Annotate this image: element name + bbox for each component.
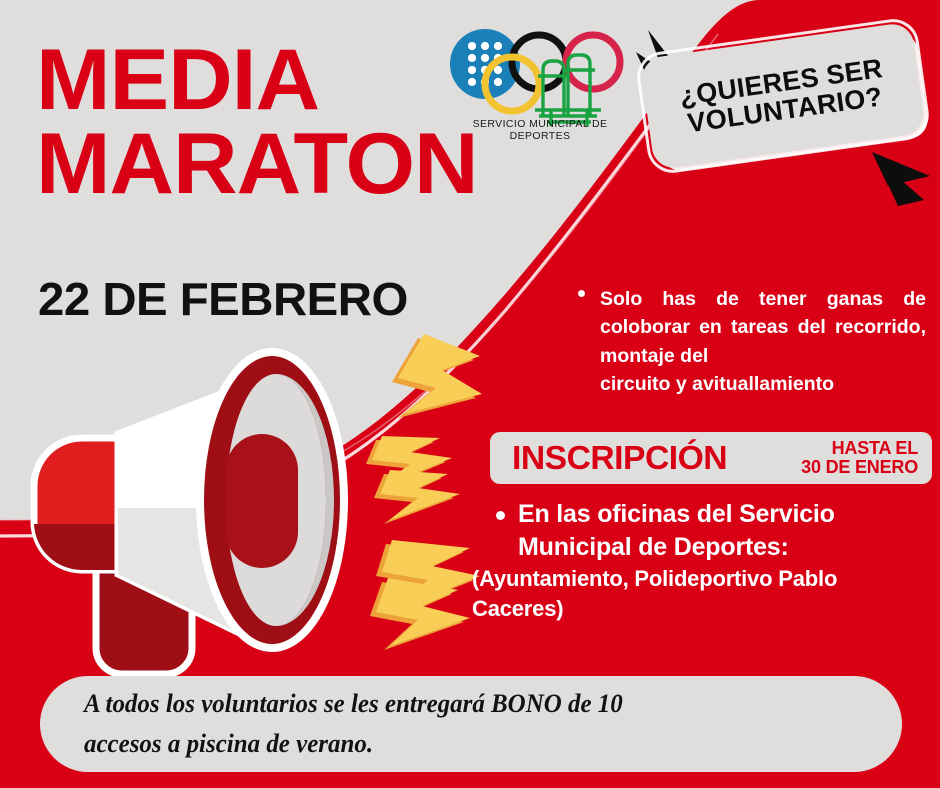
bottom-banner-text: A todos los voluntarios se les entregará…	[84, 684, 827, 765]
bottom-banner: A todos los voluntarios se les entregará…	[40, 676, 902, 772]
bottom-banner-line-2: accesos a piscina de verano.	[84, 724, 827, 764]
bullet-bottom-line-3: (Ayuntamiento, Polideportivo Pablo	[472, 564, 934, 594]
bullet-top-body: Solo has de tener ganas de coloborar en …	[600, 285, 926, 398]
sports-department-logo	[447, 18, 633, 134]
bullet-marker-icon	[578, 290, 585, 297]
page-title: MEDIA MARATON	[36, 38, 456, 207]
inscription-band: INSCRIPCIÓN HASTA EL 30 DE ENERO	[490, 432, 932, 484]
inscription-deadline: HASTA EL 30 DE ENERO	[801, 439, 918, 478]
title-line-2: MARATON	[36, 122, 473, 206]
logo-red-ring	[566, 35, 620, 89]
bullet-item-requirements: Solo has de tener ganas de coloborar en …	[578, 285, 926, 398]
logo-caption: SERVICIO MUNICIPAL DE DEPORTES	[447, 118, 633, 142]
bullet-top-last-line: circuito y avituallamiento	[600, 370, 926, 398]
inscription-deadline-line-2: 30 DE ENERO	[801, 457, 918, 477]
bullet-top-text: Solo has de tener ganas de coloborar en …	[600, 288, 926, 367]
bullet-bottom-line-1: En las oficinas del Servicio	[518, 498, 934, 531]
inscription-label: INSCRIPCIÓN	[512, 439, 727, 477]
bullet-bottom-line-4: Caceres)	[472, 594, 934, 624]
bullet-bottom-line-2: Municipal de Deportes:	[518, 531, 934, 564]
bullet-marker-icon	[496, 511, 505, 520]
bullet-item-location: En las oficinas del Servicio Municipal d…	[472, 498, 934, 623]
title-line-1: MEDIA	[36, 38, 473, 122]
bottom-banner-line-1: A todos los voluntarios se les entregará…	[84, 689, 623, 718]
inscription-deadline-line-1: HASTA EL	[832, 438, 918, 458]
poster-canvas: MEDIA MARATON 22 DE FEBRERO SERVICIO MUN…	[0, 0, 940, 788]
event-date: 22 DE FEBRERO	[38, 272, 408, 326]
megaphone-inner-knob	[226, 434, 298, 568]
